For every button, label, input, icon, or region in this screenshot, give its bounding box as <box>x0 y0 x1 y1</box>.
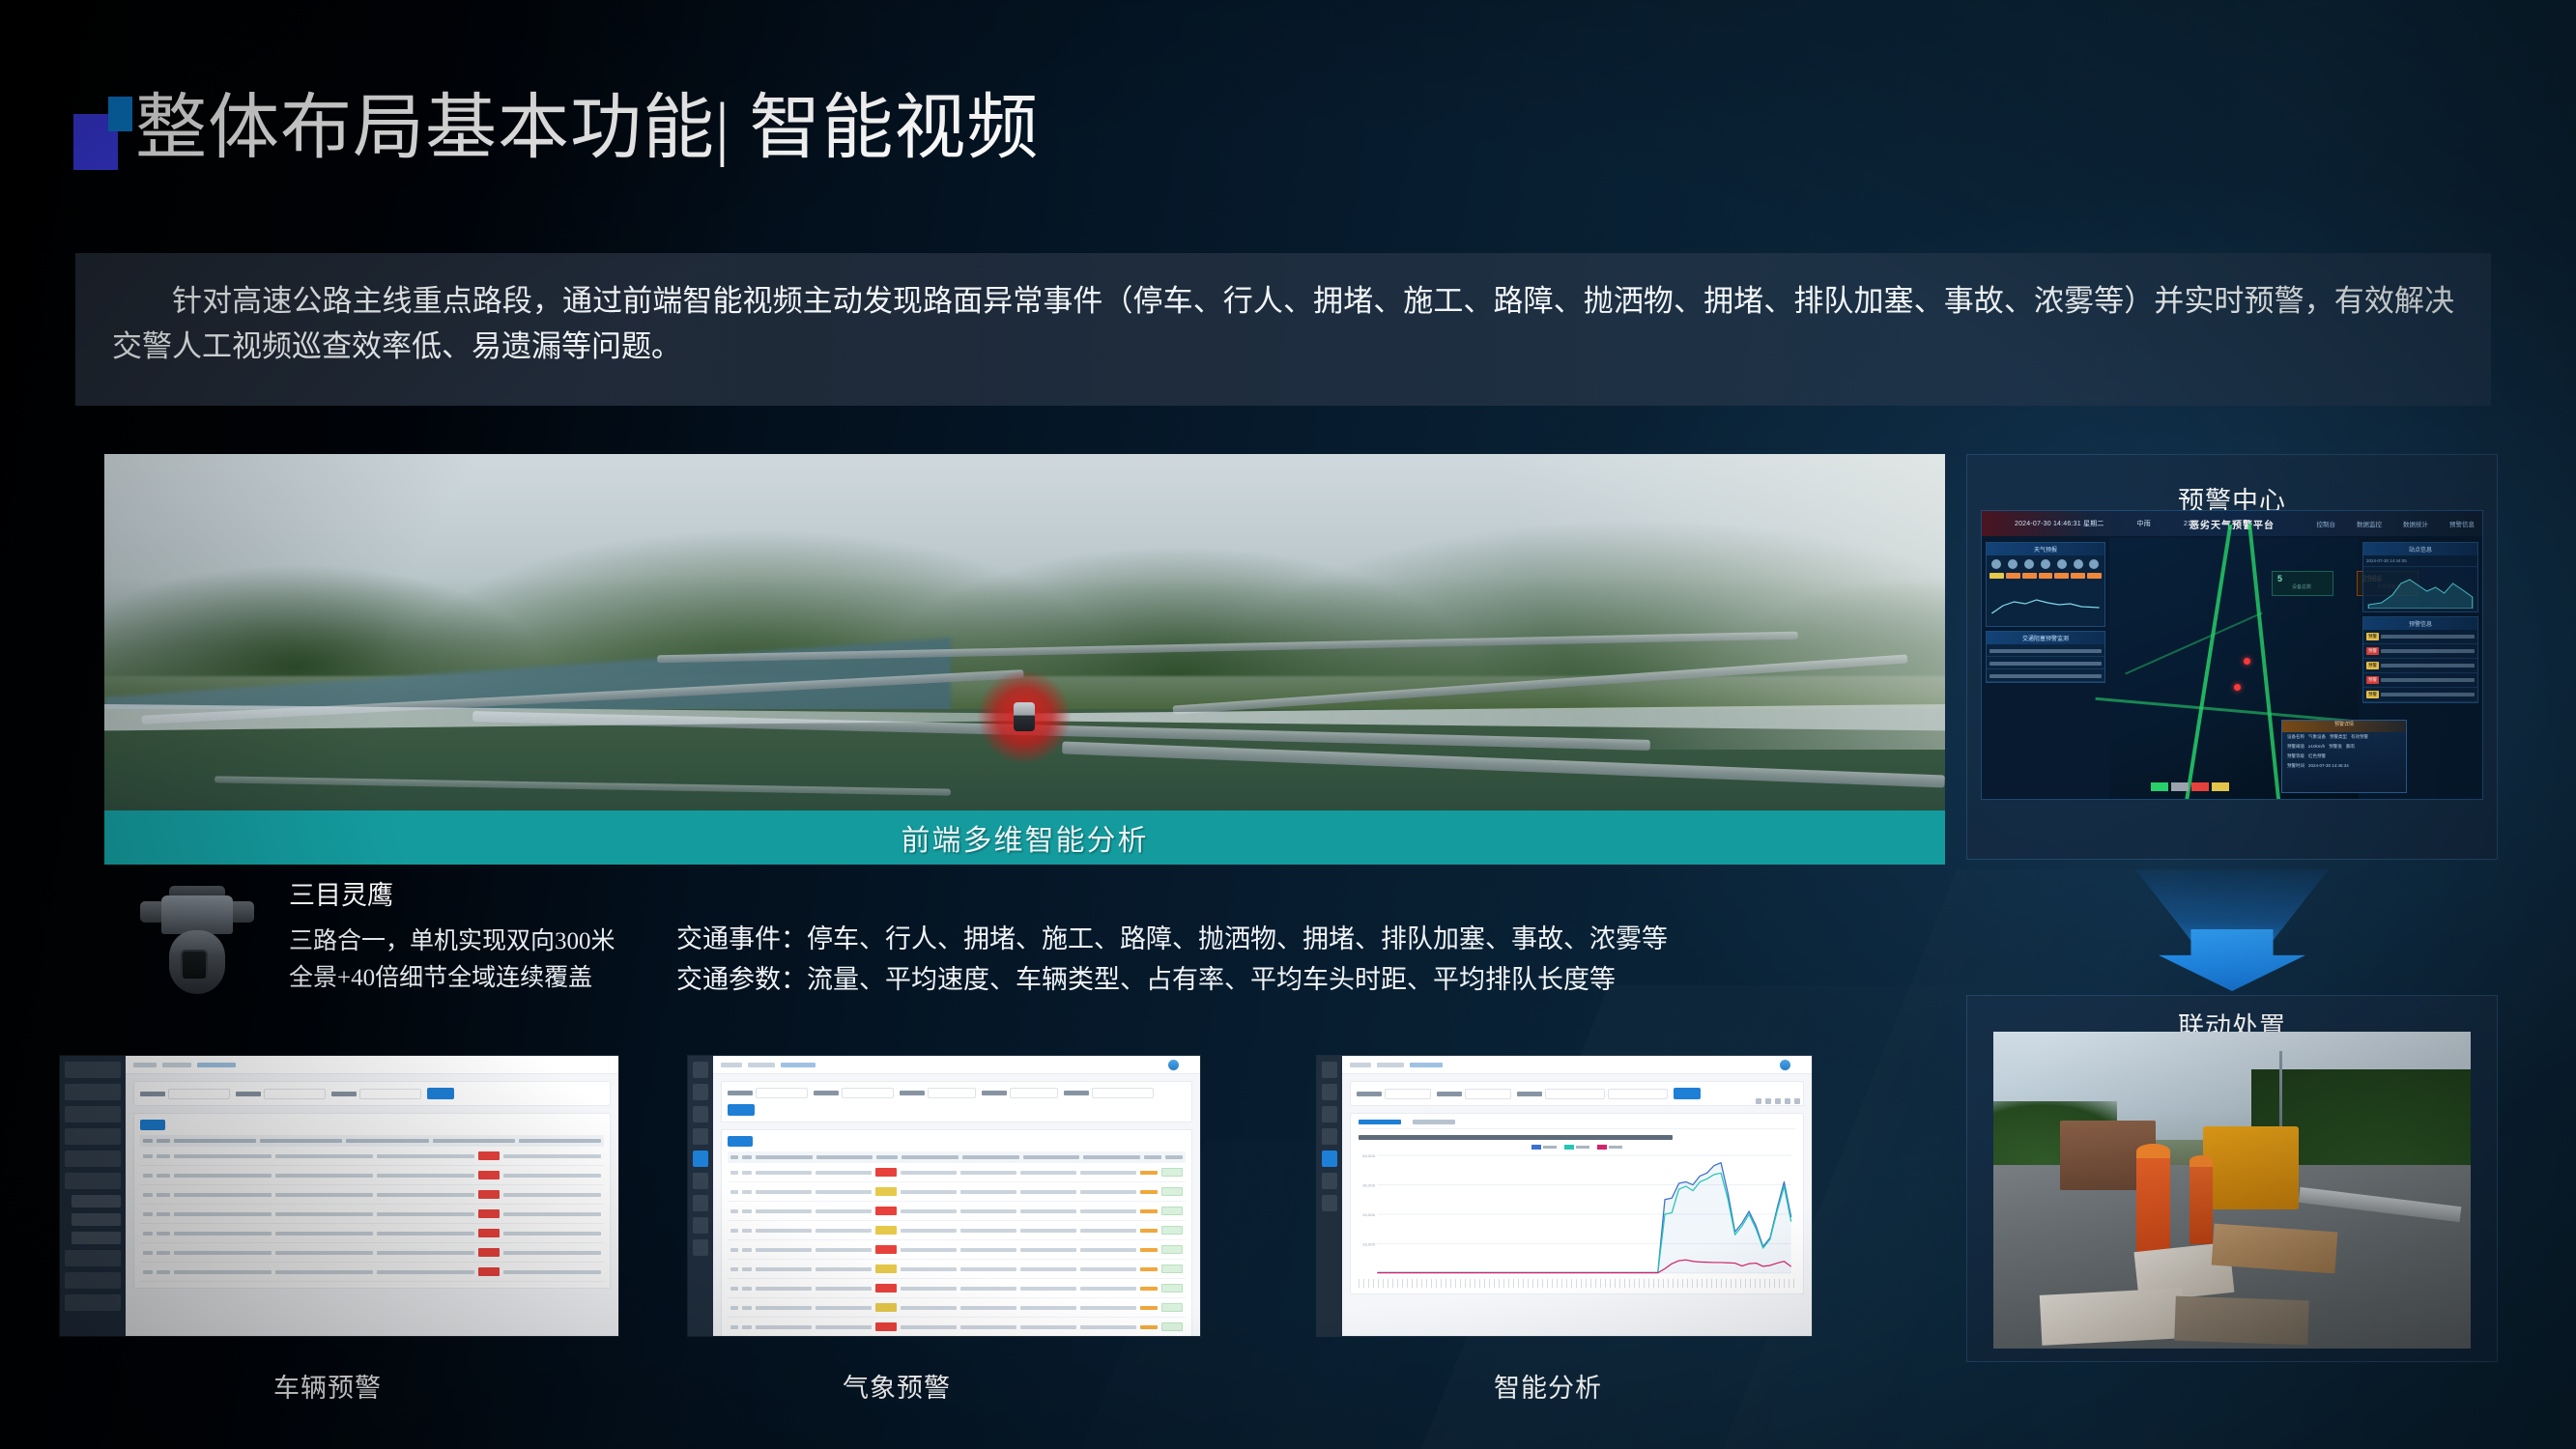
sidebar-item[interactable] <box>65 1250 121 1266</box>
weather-icon <box>2057 559 2067 569</box>
traffic-params-line: 交通参数：流量、平均速度、车辆类型、占有率、平均车头时距、平均排队长度等 <box>676 960 1668 1001</box>
save-icon[interactable] <box>1756 1098 1761 1104</box>
page-title: 整体布局基本功能| 智能视频 <box>70 85 1039 166</box>
sidebar-item[interactable] <box>1322 1106 1337 1122</box>
wp-popup-key: 预警值 <box>2329 744 2342 750</box>
table-row[interactable] <box>728 1202 1186 1221</box>
wp-weather-icons <box>1987 555 2104 573</box>
table-row[interactable] <box>728 1298 1186 1318</box>
table-row[interactable] <box>728 1260 1186 1279</box>
map-road <box>2247 523 2284 800</box>
table-row[interactable] <box>728 1279 1186 1298</box>
filter-bar[interactable] <box>133 1081 611 1106</box>
sidebar-subitem[interactable] <box>72 1232 121 1244</box>
hero-banner: 前端多维智能分析 <box>104 810 1945 865</box>
filter-label <box>900 1091 925 1095</box>
filter-label <box>1517 1092 1542 1096</box>
filter-label <box>236 1092 261 1096</box>
caption-weather-warning: 气象预警 <box>843 1367 951 1405</box>
add-button[interactable] <box>728 1136 753 1147</box>
weather-badge <box>1989 573 2004 579</box>
wp-popup-val: 气象设备 <box>2308 734 2326 740</box>
wp-traffic-warning-card: 交通阻塞预警监测 <box>1986 631 2105 683</box>
wp-map[interactable]: 5 设备总数 2966 今日预警量 预警详情 设备名称 气象设备 预警类型 有效… <box>2109 538 2359 799</box>
sidebar-item[interactable] <box>1322 1128 1337 1145</box>
description-panel: 针对高速公路主线重点路段，通过前端智能视频主动发现路面异常事件（停车、行人、拥堵… <box>75 253 2491 406</box>
title-accent-marks <box>70 85 133 166</box>
wp-popup-val: ≥10km/h <box>2308 744 2325 750</box>
map-road <box>2126 612 2263 675</box>
wp-nav-item[interactable]: 控制台 <box>2317 519 2336 528</box>
wp-list-item <box>1987 657 2104 669</box>
column-header <box>346 1139 428 1143</box>
legend-item-pass-volume[interactable] <box>1531 1145 1557 1150</box>
weather-icon <box>2041 559 2050 569</box>
legend-warning-icon <box>2191 782 2209 791</box>
dashboard-sidebar[interactable] <box>1317 1056 1342 1336</box>
wp-placeholder <box>1989 662 2102 666</box>
incident-response-photo <box>1993 1032 2471 1349</box>
sidebar-item[interactable] <box>693 1239 708 1256</box>
breadcrumb[interactable] <box>162 1063 191 1067</box>
dashboard-topbar <box>126 1056 618 1074</box>
legend-normal-icon <box>2151 782 2168 791</box>
weather-icon <box>2008 559 2018 569</box>
wp-card-title: 天气预报 <box>1987 543 2104 555</box>
breadcrumb-current <box>197 1063 236 1067</box>
sidebar-item-active[interactable] <box>1322 1151 1337 1167</box>
tab-flow-statistics[interactable] <box>1359 1120 1401 1124</box>
camera-icon <box>1014 702 1035 731</box>
filter-input[interactable] <box>1092 1088 1154 1098</box>
wp-header: 2024-07-30 14:46:31 星期二 中雨 21℃ 恶劣天气预警平台 … <box>1982 511 2482 536</box>
caption-vehicle-warning: 车辆预警 <box>273 1367 382 1405</box>
filter-field[interactable] <box>728 1088 808 1098</box>
sidebar-item[interactable] <box>693 1195 708 1211</box>
worker-helmet-icon <box>2190 1155 2214 1167</box>
wp-popup-key: 设备名称 <box>2287 734 2304 740</box>
camera-body <box>161 895 233 934</box>
chart-legend[interactable] <box>1359 1145 1795 1150</box>
sidebar-item[interactable] <box>65 1084 121 1100</box>
breadcrumb[interactable] <box>1350 1063 1371 1067</box>
wp-station-chart <box>2366 570 2475 609</box>
filter-input[interactable] <box>1465 1089 1511 1099</box>
wp-warning-tag: 预警 <box>2366 676 2379 684</box>
page-title-text: 整体布局基本功能| 智能视频 <box>135 91 1039 166</box>
wp-right-sidebar: 站点信息 2024-07-30 14:44:05 预警信息 预警 预警 <box>2359 538 2482 799</box>
column-header <box>174 1139 256 1143</box>
wp-weather-forecast-card: 天气预报 <box>1986 542 2105 627</box>
filter-field[interactable] <box>814 1088 894 1098</box>
filter-label <box>1357 1092 1382 1096</box>
filter-field[interactable] <box>140 1089 230 1099</box>
wp-placeholder <box>2381 693 2475 696</box>
filter-field[interactable] <box>900 1088 976 1098</box>
date-from-input[interactable] <box>1545 1089 1605 1099</box>
filter-input[interactable] <box>842 1088 894 1098</box>
data-table <box>133 1113 611 1289</box>
avatar[interactable] <box>1780 1060 1790 1070</box>
wp-kpi-devices: 5 设备总数 <box>2272 571 2333 596</box>
svg-text:20,000: 20,000 <box>1362 1212 1376 1217</box>
column-header <box>260 1139 342 1143</box>
traffic-flow-chart: 10,00020,00030,00040,000 <box>1359 1151 1795 1279</box>
chart-tabs[interactable] <box>1359 1120 1795 1129</box>
sidebar-item[interactable] <box>65 1128 121 1145</box>
wp-kpi-devices-value: 5 <box>2277 574 2333 583</box>
bar-chart-icon[interactable] <box>1775 1098 1781 1104</box>
legend-blocked-icon <box>2171 782 2189 791</box>
wp-nav-item[interactable]: 数据监控 <box>2357 519 2382 528</box>
filter-input[interactable] <box>264 1089 326 1099</box>
breadcrumb-current <box>781 1063 816 1067</box>
wp-temperature-trend-chart <box>1989 584 2102 623</box>
filter-field[interactable] <box>331 1089 421 1099</box>
sidebar-item[interactable] <box>693 1173 708 1189</box>
wp-warning-tag: 预警 <box>2366 633 2379 640</box>
table-row[interactable] <box>728 1163 1186 1182</box>
wp-card-title: 预警信息 <box>2363 617 2477 630</box>
date-to-input[interactable] <box>1608 1089 1668 1099</box>
wp-station-updated: 2024-07-30 14:44:05 <box>2366 558 2407 563</box>
wp-warning-item[interactable]: 预警 <box>2363 688 2477 702</box>
filter-label <box>331 1092 357 1096</box>
chart-title <box>1359 1135 1673 1140</box>
avatar[interactable] <box>1168 1060 1179 1070</box>
sidebar-item[interactable] <box>693 1217 708 1234</box>
incident-work-vehicle <box>2203 1126 2299 1208</box>
traffic-info-block: 交通事件：停车、行人、拥堵、施工、路障、抛洒物、拥堵、排队加塞、事故、浓雾等 交… <box>676 920 1668 1001</box>
filter-bar[interactable] <box>1350 1081 1804 1106</box>
search-button[interactable] <box>1674 1088 1701 1099</box>
sidebar-subitem[interactable] <box>72 1195 121 1207</box>
wp-list-item <box>1987 644 2104 657</box>
sidebar-item[interactable] <box>65 1294 121 1311</box>
wp-placeholder <box>2381 649 2475 653</box>
sidebar-item[interactable] <box>1322 1084 1337 1100</box>
svg-text:40,000: 40,000 <box>1362 1153 1376 1158</box>
weather-icon <box>2024 559 2034 569</box>
wp-warning-tag: 预警 <box>2366 691 2379 698</box>
filter-input[interactable] <box>1385 1089 1431 1099</box>
sidebar-item[interactable] <box>693 1106 708 1122</box>
legend-swatch <box>1531 1145 1541 1150</box>
legend-swatch <box>1564 1145 1574 1150</box>
table-header-row <box>140 1135 604 1147</box>
filter-label <box>140 1092 165 1096</box>
wp-popup-val: 暴雨 <box>2346 744 2355 750</box>
refresh-icon[interactable] <box>1765 1098 1771 1104</box>
wp-weather: 中雨 <box>2137 519 2151 528</box>
wp-popup-val: 2024-07-30 14:46:34 <box>2308 763 2349 769</box>
wp-warning-item[interactable]: 预警 <box>2363 659 2477 673</box>
wp-kpi-devices-label: 设备总数 <box>2292 583 2333 590</box>
sidebar-item[interactable] <box>693 1062 708 1078</box>
filter-field[interactable] <box>1357 1089 1431 1099</box>
column-header <box>143 1139 153 1143</box>
legend-congestion-icon <box>2212 782 2229 791</box>
weather-badge <box>2054 573 2069 579</box>
wp-card-title: 站点信息 <box>2363 543 2477 555</box>
filter-label <box>1437 1092 1462 1096</box>
dashboard-sidebar[interactable] <box>60 1056 126 1336</box>
sidebar-item[interactable] <box>693 1084 708 1100</box>
weather-badge <box>2087 573 2102 579</box>
caption-intelligent-analysis: 智能分析 <box>1494 1367 1602 1405</box>
table-row[interactable] <box>140 1185 604 1205</box>
camera-device-block: 三目灵鹰 三路合一，单机实现双向300米 全景+40倍细节全域连续覆盖 <box>140 874 615 1019</box>
filter-label <box>1064 1091 1089 1095</box>
filter-label <box>728 1091 753 1095</box>
wp-warning-item[interactable]: 预警 <box>2363 673 2477 688</box>
device-spec-line-2: 全景+40倍细节全域连续覆盖 <box>289 960 615 997</box>
wp-placeholder <box>2381 635 2475 639</box>
chart-plot-area: 10,00020,00030,00040,000 <box>1359 1151 1795 1279</box>
table-row[interactable] <box>728 1318 1186 1336</box>
table-row[interactable] <box>140 1205 604 1224</box>
worker-helmet-icon <box>2136 1144 2170 1159</box>
legend-item-out-of-province[interactable] <box>1564 1145 1589 1150</box>
table-row[interactable] <box>140 1147 604 1166</box>
table-row[interactable] <box>728 1182 1186 1202</box>
filter-field[interactable] <box>982 1088 1058 1098</box>
map-alert-marker[interactable] <box>2244 658 2250 665</box>
breadcrumb[interactable] <box>721 1063 742 1067</box>
sidebar-item-active[interactable] <box>693 1151 708 1167</box>
hero-banner-label: 前端多维智能分析 <box>902 816 1149 859</box>
chart-x-axis-labels <box>1359 1279 1795 1288</box>
camera-detection-marker <box>869 668 1182 766</box>
wp-warning-tag: 预警 <box>2366 662 2379 669</box>
wp-warning-item[interactable]: 预警 <box>2363 644 2477 659</box>
wp-station-info-card: 站点信息 2024-07-30 14:44:05 <box>2362 542 2478 612</box>
wp-placeholder <box>1989 674 2102 678</box>
sidebar-item[interactable] <box>1322 1195 1337 1211</box>
sidebar-item[interactable] <box>1322 1062 1337 1078</box>
weather-icon <box>2089 559 2099 569</box>
table-row[interactable] <box>140 1224 604 1243</box>
camera-main-lens <box>181 950 208 980</box>
legend-item-speeding[interactable] <box>1597 1145 1622 1150</box>
wp-popup-key: 预警类型 <box>2330 734 2347 740</box>
ptz-camera-icon <box>140 874 254 1019</box>
table-header-row <box>728 1151 1186 1163</box>
date-range-field[interactable] <box>1517 1089 1668 1099</box>
tab-comparison-statistics[interactable] <box>1413 1120 1455 1124</box>
sidebar-item[interactable] <box>693 1128 708 1145</box>
breadcrumb[interactable] <box>748 1063 775 1067</box>
weather-icon <box>1991 559 2001 569</box>
filter-label <box>814 1091 839 1095</box>
wp-popup-key: 预警时间 <box>2287 763 2304 769</box>
wp-placeholder <box>2381 678 2475 682</box>
arrow-head <box>2159 929 2305 991</box>
wp-popup-val: 红色预警 <box>2308 753 2326 759</box>
legend-label <box>1609 1146 1622 1149</box>
wp-weather-badges <box>1987 573 2104 582</box>
column-header <box>157 1139 170 1143</box>
incident-debris <box>2040 1288 2186 1346</box>
search-button[interactable] <box>728 1104 755 1116</box>
wp-warning-tag: 预警 <box>2366 647 2379 655</box>
wp-list-item <box>1987 669 2104 682</box>
map-road <box>2180 524 2233 800</box>
breadcrumb[interactable] <box>133 1063 157 1067</box>
description-text: 针对高速公路主线重点路段，通过前端智能视频主动发现路面异常事件（停车、行人、拥堵… <box>112 278 2454 369</box>
dashboard-intelligent-analysis[interactable]: 10,00020,00030,00040,000 <box>1317 1056 1812 1336</box>
sidebar-item[interactable] <box>65 1151 121 1167</box>
download-icon[interactable] <box>1794 1098 1800 1104</box>
add-button[interactable] <box>140 1120 165 1130</box>
table-row[interactable] <box>140 1243 604 1263</box>
wp-popup-key: 预警阈值 <box>2287 744 2304 750</box>
dashboard-sidebar[interactable] <box>688 1056 713 1336</box>
dashboard-main <box>126 1056 618 1336</box>
filter-bar[interactable] <box>721 1081 1192 1122</box>
wp-placeholder <box>1989 649 2102 653</box>
wp-station-updated-row: 2024-07-30 14:44:05 <box>2363 555 2477 567</box>
cyan-square-icon <box>108 97 132 131</box>
weather-badge <box>2006 573 2020 579</box>
wp-datetime: 2024-07-30 14:46:31 星期二 <box>2015 519 2104 528</box>
filter-input[interactable] <box>359 1089 421 1099</box>
filter-input[interactable] <box>756 1088 808 1098</box>
weather-badge <box>2039 573 2053 579</box>
weather-badge <box>2071 573 2085 579</box>
camera-device-text: 三目灵鹰 三路合一，单机实现双向300米 全景+40倍细节全域连续覆盖 <box>289 874 615 997</box>
table-row[interactable] <box>140 1166 604 1185</box>
filter-input[interactable] <box>1010 1088 1058 1098</box>
filter-field[interactable] <box>1437 1089 1511 1099</box>
filter-label <box>982 1091 1007 1095</box>
slide-root: 整体布局基本功能| 智能视频 针对高速公路主线重点路段，通过前端智能视频主动发现… <box>0 0 2576 1449</box>
wp-card-title: 交通阻塞预警监测 <box>1987 632 2104 644</box>
filter-field[interactable] <box>236 1089 326 1099</box>
wp-warning-info-card: 预警信息 预警 预警 预警 预警 预警 <box>2362 616 2478 703</box>
dashboard-vehicle-warning[interactable] <box>60 1056 618 1336</box>
dashboard-weather-warning[interactable] <box>688 1056 1200 1336</box>
breadcrumb-current <box>1410 1063 1443 1067</box>
filter-field[interactable] <box>1064 1088 1154 1098</box>
pie-chart-icon[interactable] <box>1785 1098 1790 1104</box>
chart-toolbar[interactable] <box>1756 1098 1800 1104</box>
dashboard-topbar <box>1342 1056 1812 1074</box>
sidebar-item[interactable] <box>65 1173 121 1189</box>
svg-text:10,000: 10,000 <box>1362 1242 1376 1247</box>
map-alert-marker[interactable] <box>2234 684 2241 691</box>
incident-debris <box>2174 1295 2309 1345</box>
sidebar-item[interactable] <box>1322 1173 1337 1189</box>
incident-worker <box>2136 1152 2170 1261</box>
highway-aerial-photo <box>104 454 1945 865</box>
table-row[interactable] <box>728 1240 1186 1260</box>
chart-card: 10,00020,00030,00040,000 <box>1350 1113 1804 1294</box>
legend-label <box>1576 1146 1589 1149</box>
column-header <box>519 1139 601 1143</box>
wp-nav-item[interactable]: 预警信息 <box>2449 519 2475 528</box>
incident-worker <box>2190 1161 2214 1243</box>
weather-warning-platform-dashboard[interactable]: 2024-07-30 14:46:31 星期二 中雨 21℃ 恶劣天气预警平台 … <box>1981 510 2483 800</box>
incident-tower <box>2279 1051 2282 1133</box>
legend-label <box>1543 1146 1557 1149</box>
wp-warning-item[interactable]: 预警 <box>2363 630 2477 644</box>
dashboard-topbar <box>713 1056 1200 1074</box>
device-name: 三目灵鹰 <box>289 874 615 912</box>
wp-placeholder <box>2381 664 2475 668</box>
sidebar-item[interactable] <box>65 1272 121 1289</box>
sidebar-subitem-active[interactable] <box>72 1213 121 1226</box>
legend-swatch <box>1597 1145 1607 1150</box>
search-button[interactable] <box>427 1088 454 1099</box>
sidebar-item[interactable] <box>65 1062 121 1078</box>
weather-badge <box>2022 573 2037 579</box>
down-arrow-icon <box>2135 869 2329 997</box>
svg-text:30,000: 30,000 <box>1362 1183 1376 1188</box>
filter-input[interactable] <box>168 1089 230 1099</box>
wp-nav[interactable]: 控制台 数据监控 数据统计 预警信息 <box>2317 519 2476 528</box>
dashboard-main <box>713 1056 1200 1336</box>
wp-left-sidebar: 天气预报 <box>1982 538 2109 799</box>
weather-icon <box>2074 559 2083 569</box>
wp-map-legend <box>2151 782 2229 791</box>
wp-popup-key: 预警等级 <box>2287 753 2304 759</box>
wp-nav-item[interactable]: 数据统计 <box>2403 519 2428 528</box>
sidebar-item[interactable] <box>65 1106 121 1122</box>
data-table <box>721 1129 1192 1336</box>
breadcrumb[interactable] <box>1377 1063 1404 1067</box>
dashboard-main: 10,00020,00030,00040,000 <box>1342 1056 1812 1336</box>
table-row[interactable] <box>728 1221 1186 1240</box>
table-row[interactable] <box>140 1263 604 1282</box>
column-header <box>433 1139 515 1143</box>
traffic-events-line: 交通事件：停车、行人、拥堵、施工、路障、抛洒物、拥堵、排队加塞、事故、浓雾等 <box>676 920 1668 960</box>
filter-input[interactable] <box>928 1088 976 1098</box>
device-spec-line-1: 三路合一，单机实现双向300米 <box>289 923 615 960</box>
